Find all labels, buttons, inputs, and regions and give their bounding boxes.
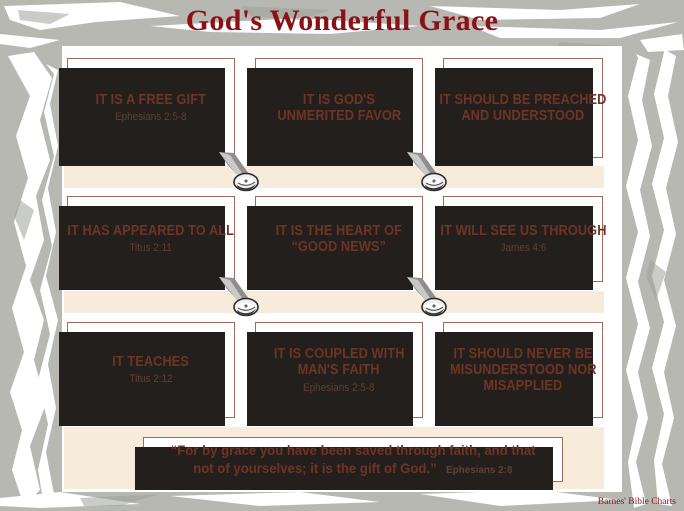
concept-box-see-us-through[interactable]: IT WILL SEE US THROUGH James 4:6 [443, 196, 603, 282]
box-heading-line: MISAPPLIED [484, 378, 563, 394]
quote-reference: Ephesians 2:8 [446, 464, 512, 476]
box-reference: Titus 2:12 [129, 373, 172, 385]
box-heading-line: UNMERITED FAVOR [277, 108, 401, 124]
concept-box-coupled-with-faith[interactable]: IT IS COUPLED WITH MAN'S FAITH Ephesians… [255, 322, 423, 418]
box-heading-line: MAN'S FAITH [298, 362, 380, 378]
pen-nib-pointer-icon [406, 152, 452, 199]
concept-box-heart-of-good-news[interactable]: IT IS THE HEART OF “GOOD NEWS” [255, 196, 423, 282]
box-reference: Ephesians 2:5-8 [115, 111, 187, 123]
box-heading-line: IT IS GOD'S [303, 92, 375, 108]
concept-box-unmerited-favor[interactable]: IT IS GOD'S UNMERITED FAVOR [255, 58, 423, 158]
box-heading-line: IT IS A FREE GIFT [96, 92, 206, 108]
box-heading-line: AND UNDERSTOOD [462, 108, 585, 124]
pen-nib-pointer-icon [218, 152, 264, 199]
divider-band-1 [64, 166, 604, 188]
box-reference: Ephesians 2:5-8 [303, 382, 375, 394]
scripture-quote-box[interactable]: “For by grace you have been saved throug… [143, 437, 563, 482]
pen-nib-pointer-icon [406, 277, 452, 324]
box-heading-line: IT IS COUPLED WITH [274, 346, 405, 362]
box-heading-line: IT SHOULD NEVER BE [453, 346, 592, 362]
quote-line-1: “For by grace you have been saved throug… [171, 442, 536, 460]
box-heading-line: IT WILL SEE US THROUGH [440, 223, 606, 239]
box-heading-line: IT IS THE HEART OF [276, 223, 402, 239]
concept-box-preached-understood[interactable]: IT SHOULD BE PREACHED AND UNDERSTOOD [443, 58, 603, 158]
pen-nib-pointer-icon [218, 277, 264, 324]
box-reference: Titus 2:11 [130, 242, 172, 254]
bible-chart-canvas: God's Wonderful Grace IT IS A FREE GIFT … [0, 0, 684, 511]
quote-line-2-wrapper: not of yourselves; it is the gift of God… [193, 460, 512, 478]
box-heading-line: MISUNDERSTOOD NOR [450, 362, 597, 378]
divider-band-2 [64, 291, 604, 313]
box-heading-line: IT HAS APPEARED TO ALL [68, 223, 235, 239]
publisher-signature: Barnes' Bible Charts [598, 497, 676, 507]
concept-box-never-misunderstood[interactable]: IT SHOULD NEVER BE MISUNDERSTOOD NOR MIS… [443, 322, 603, 418]
box-reference: James 4:6 [500, 242, 546, 254]
page-title: God's Wonderful Grace [0, 4, 684, 38]
concept-box-free-gift[interactable]: IT IS A FREE GIFT Ephesians 2:5-8 [67, 58, 235, 158]
quote-line-2: not of yourselves; it is the gift of God… [193, 460, 436, 476]
concept-box-it-teaches[interactable]: IT TEACHES Titus 2:12 [67, 322, 235, 418]
box-heading-line: IT SHOULD BE PREACHED [439, 92, 606, 108]
box-heading-line: IT TEACHES [113, 354, 190, 370]
box-heading-line: “GOOD NEWS” [292, 239, 387, 255]
concept-box-appeared-to-all[interactable]: IT HAS APPEARED TO ALL Titus 2:11 [67, 196, 235, 282]
